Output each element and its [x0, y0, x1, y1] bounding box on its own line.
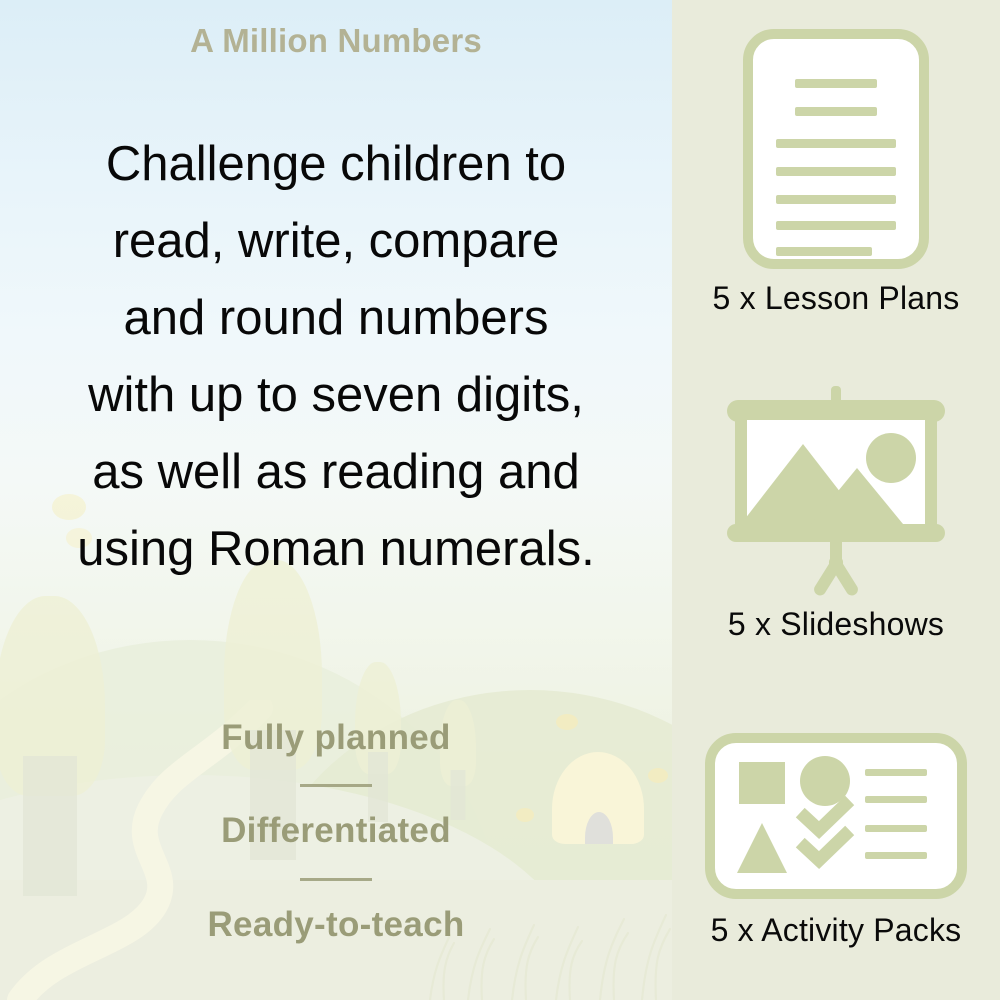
description-line: using Roman numerals. [24, 511, 648, 588]
description-line: Challenge children to [24, 126, 648, 203]
description-line: with up to seven digits, [24, 357, 648, 434]
promo-graphic: A Million Numbers Challenge children to … [0, 0, 1000, 1000]
document-icon [743, 29, 929, 269]
feature-list: Fully planned Differentiated Ready-to-te… [96, 718, 576, 945]
description-text: Challenge children to read, write, compa… [24, 126, 648, 588]
activity-card-icon [705, 733, 967, 899]
tree-trunk [23, 756, 77, 896]
tree-icon [0, 596, 110, 896]
icon-container [672, 24, 1000, 274]
right-panel: 5 x Lesson Plans [672, 0, 1000, 1000]
resource-label-activity-packs: 5 x Activity Packs [672, 912, 1000, 949]
left-panel: A Million Numbers Challenge children to … [0, 0, 672, 1000]
feature-item-differentiated: Differentiated [96, 811, 576, 851]
description-line: as well as reading and [24, 434, 648, 511]
description-line: read, write, compare [24, 203, 648, 280]
feature-item-ready-to-teach: Ready-to-teach [96, 905, 576, 945]
icon-container [672, 386, 1000, 600]
resource-item-lesson-plans: 5 x Lesson Plans [672, 24, 1000, 317]
resource-item-slideshows: 5 x Slideshows [672, 386, 1000, 643]
description-line: and round numbers [24, 280, 648, 357]
resource-item-activity-packs: 5 x Activity Packs [672, 726, 1000, 949]
icon-container [672, 726, 1000, 906]
feature-item-fully-planned: Fully planned [96, 718, 576, 758]
resource-label-lesson-plans: 5 x Lesson Plans [672, 280, 1000, 317]
bee-icon [648, 768, 668, 783]
feature-divider [300, 878, 372, 881]
resource-label-slideshows: 5 x Slideshows [672, 606, 1000, 643]
presentation-screen-icon [705, 386, 967, 600]
feature-divider [300, 784, 372, 787]
page-title: A Million Numbers [0, 22, 672, 60]
